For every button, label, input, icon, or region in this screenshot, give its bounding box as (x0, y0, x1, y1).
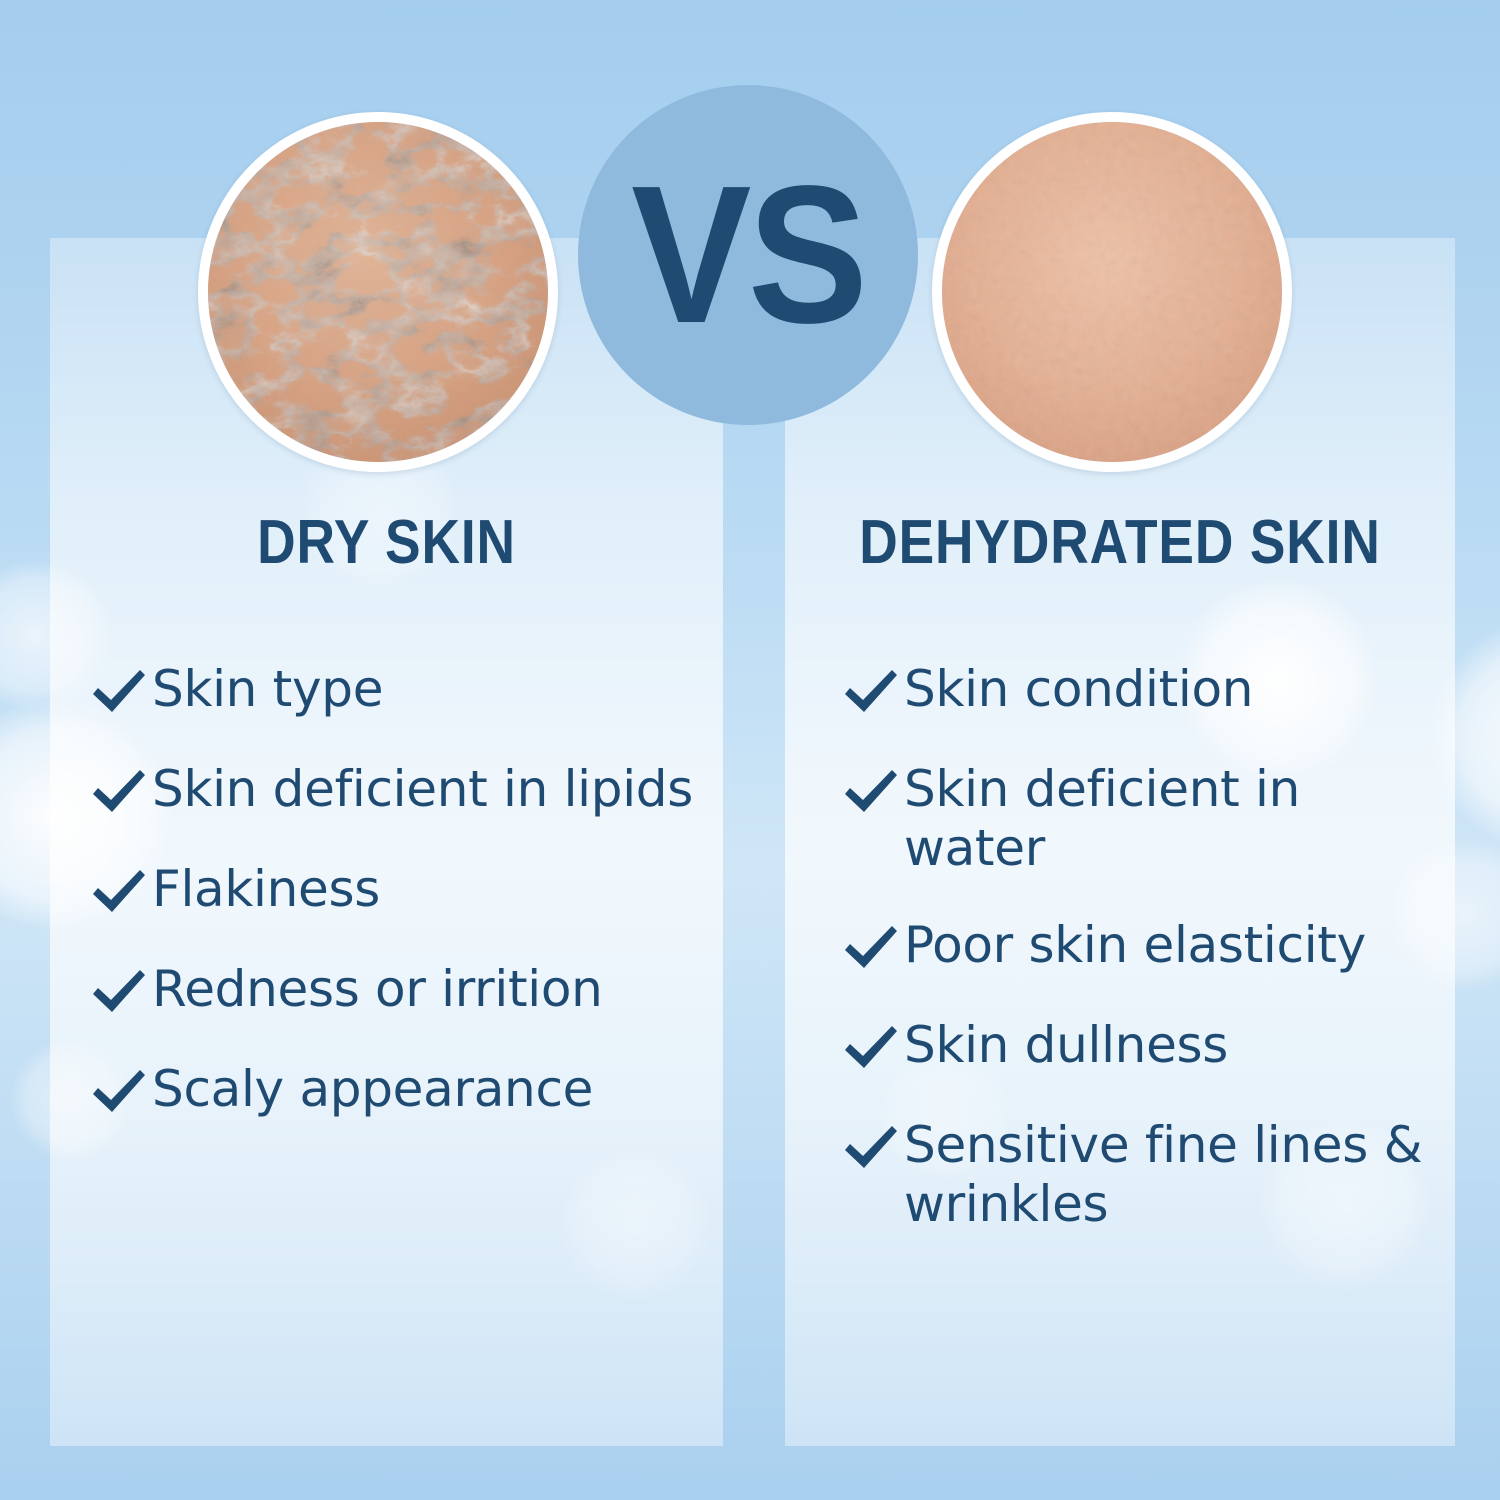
list-item-label: Skin deficient in water (902, 760, 1450, 878)
vs-badge: VS (578, 85, 918, 425)
list-item-label: Skin type (150, 660, 383, 719)
list-item-label: Poor skin elasticity (902, 916, 1366, 975)
infographic-canvas: VS DRY SKIN DEHYDRATED SKIN Skin type Sk… (0, 0, 1500, 1500)
list-item: Poor skin elasticity (840, 916, 1450, 978)
feature-list-dry: Skin type Skin deficient in lipids Flaki… (88, 660, 708, 1160)
list-item: Skin type (88, 660, 708, 722)
list-item: Flakiness (88, 860, 708, 922)
check-icon (88, 864, 150, 922)
check-icon (840, 764, 902, 822)
list-item: Redness or irrition (88, 960, 708, 1022)
list-item-label: Flakiness (150, 860, 380, 919)
list-item: Scaly appearance (88, 1060, 708, 1122)
list-item-label: Scaly appearance (150, 1060, 593, 1119)
list-item: Skin deficient in lipids (88, 760, 708, 822)
check-icon (840, 1020, 902, 1078)
feature-list-dehydrated: Skin condition Skin deficient in water P… (840, 660, 1450, 1272)
list-item-label: Skin dullness (902, 1016, 1228, 1075)
check-icon (88, 664, 150, 722)
check-icon (88, 964, 150, 1022)
check-icon (840, 920, 902, 978)
check-icon (88, 1064, 150, 1122)
list-item: Skin dullness (840, 1016, 1450, 1078)
list-item-label: Skin condition (902, 660, 1253, 719)
check-icon (840, 664, 902, 722)
list-item: Skin condition (840, 660, 1450, 722)
list-item: Skin deficient in water (840, 760, 1450, 878)
dehydrated-skin-macro-photo (932, 112, 1292, 472)
dry-skin-macro-photo (198, 112, 558, 472)
check-icon (88, 764, 150, 822)
column-title-dehydrated: DEHYDRATED SKIN (832, 512, 1408, 574)
column-title-dry: DRY SKIN (97, 512, 676, 574)
list-item-label: Redness or irrition (150, 960, 603, 1019)
list-item-label: Sensitive fine lines & wrinkles (902, 1116, 1450, 1234)
list-item-label: Skin deficient in lipids (150, 760, 693, 819)
list-item: Sensitive fine lines & wrinkles (840, 1116, 1450, 1234)
check-icon (840, 1120, 902, 1178)
vs-label: VS (631, 157, 864, 353)
